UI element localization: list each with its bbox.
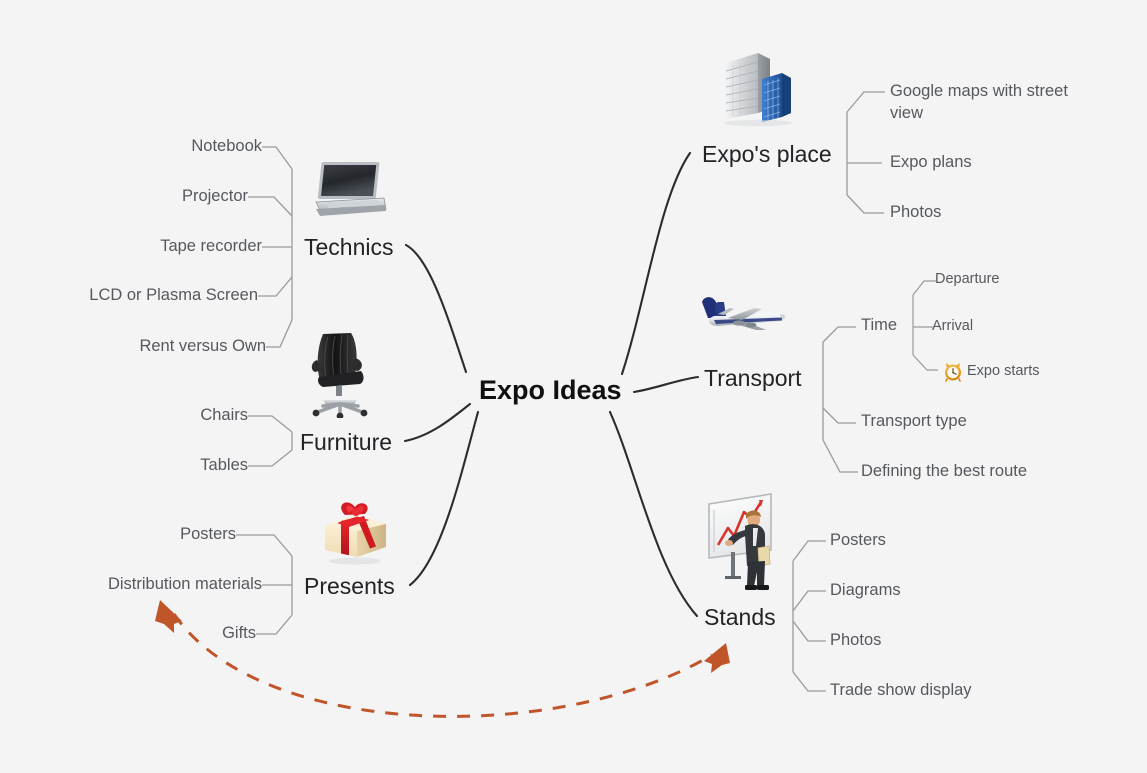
airplane-icon: [694, 292, 790, 342]
gift-box-icon: [317, 497, 393, 565]
leaf-expo-plans[interactable]: Expo plans: [890, 153, 972, 172]
office-chair-icon: [303, 330, 377, 418]
connector-center-stands: [610, 412, 697, 616]
lead-stands-photos: [793, 621, 826, 641]
lead-transport-time: [823, 327, 856, 342]
connector-center-expos-place: [622, 153, 690, 374]
presenter-board-icon: [703, 488, 785, 598]
branch-technics[interactable]: Technics: [304, 234, 393, 260]
leaf-transport-type[interactable]: Transport type: [861, 412, 967, 431]
leaf-lcd-or-plasma-screen[interactable]: LCD or Plasma Screen: [0, 286, 258, 305]
leaf-arrival[interactable]: Arrival: [932, 318, 973, 335]
lead-time-expo-starts: [913, 355, 938, 370]
branch-transport[interactable]: Transport: [704, 365, 802, 391]
leaf-defining-the-best-route[interactable]: Defining the best route: [861, 462, 1027, 481]
connector-center-presents: [410, 412, 478, 585]
lead-presents-posters: [236, 535, 292, 556]
central-topic[interactable]: Expo Ideas: [479, 375, 622, 406]
leaf-chairs[interactable]: Chairs: [0, 406, 248, 425]
mindmap-canvas: Expo Ideas Technics Notebook Projector T…: [0, 0, 1147, 773]
lead-technics-rent: [266, 320, 292, 347]
leaf-expo-starts[interactable]: Expo starts: [967, 363, 1040, 380]
lead-stands-diagrams: [793, 591, 826, 611]
laptop-icon: [310, 158, 388, 220]
leaf-distribution-materials[interactable]: Distribution materials: [0, 575, 262, 594]
lead-presents-gifts: [256, 615, 292, 634]
leaf-time[interactable]: Time: [861, 316, 897, 335]
lead-transport-type: [823, 408, 856, 423]
leaf-google-maps-street-view[interactable]: Google maps with street view: [890, 81, 1105, 125]
lead-technics-projector: [248, 197, 292, 216]
lead-stands-posters: [793, 541, 826, 561]
lead-technics-lcd: [258, 277, 292, 296]
leaf-posters-stands[interactable]: Posters: [830, 531, 886, 550]
branch-stands[interactable]: Stands: [704, 604, 776, 630]
leaf-departure[interactable]: Departure: [935, 271, 999, 288]
lead-expos-place-photos: [847, 195, 884, 213]
relationship-arrow: [155, 600, 730, 716]
branch-presents[interactable]: Presents: [304, 573, 395, 599]
connector-center-technics: [406, 245, 466, 372]
leaf-rent-versus-own[interactable]: Rent versus Own: [0, 337, 266, 356]
alarm-clock-icon: [942, 360, 964, 382]
lead-time-departure: [913, 281, 936, 295]
leaf-tape-recorder[interactable]: Tape recorder: [0, 237, 262, 256]
lead-furniture-chairs: [248, 416, 292, 432]
lead-expos-place-maps: [847, 92, 885, 112]
branch-furniture[interactable]: Furniture: [300, 429, 392, 455]
lead-technics-notebook: [262, 147, 292, 169]
leaf-projector[interactable]: Projector: [0, 187, 248, 206]
leaf-notebook[interactable]: Notebook: [0, 137, 262, 156]
leaf-tables[interactable]: Tables: [0, 456, 248, 475]
leaf-photos-expos-place[interactable]: Photos: [890, 203, 941, 222]
connector-center-transport: [634, 377, 698, 392]
connector-center-furniture: [405, 404, 470, 441]
leaf-posters-presents[interactable]: Posters: [0, 525, 236, 544]
leaf-photos-stands[interactable]: Photos: [830, 631, 881, 650]
lead-stands-trade: [793, 672, 826, 691]
leaf-trade-show-display[interactable]: Trade show display: [830, 681, 972, 700]
skyscrapers-icon: [718, 47, 798, 129]
leaf-diagrams[interactable]: Diagrams: [830, 581, 901, 600]
branch-expos-place[interactable]: Expo's place: [702, 141, 832, 167]
lead-furniture-tables: [248, 450, 292, 466]
leaf-gifts[interactable]: Gifts: [0, 624, 256, 643]
lead-transport-route: [823, 440, 858, 472]
